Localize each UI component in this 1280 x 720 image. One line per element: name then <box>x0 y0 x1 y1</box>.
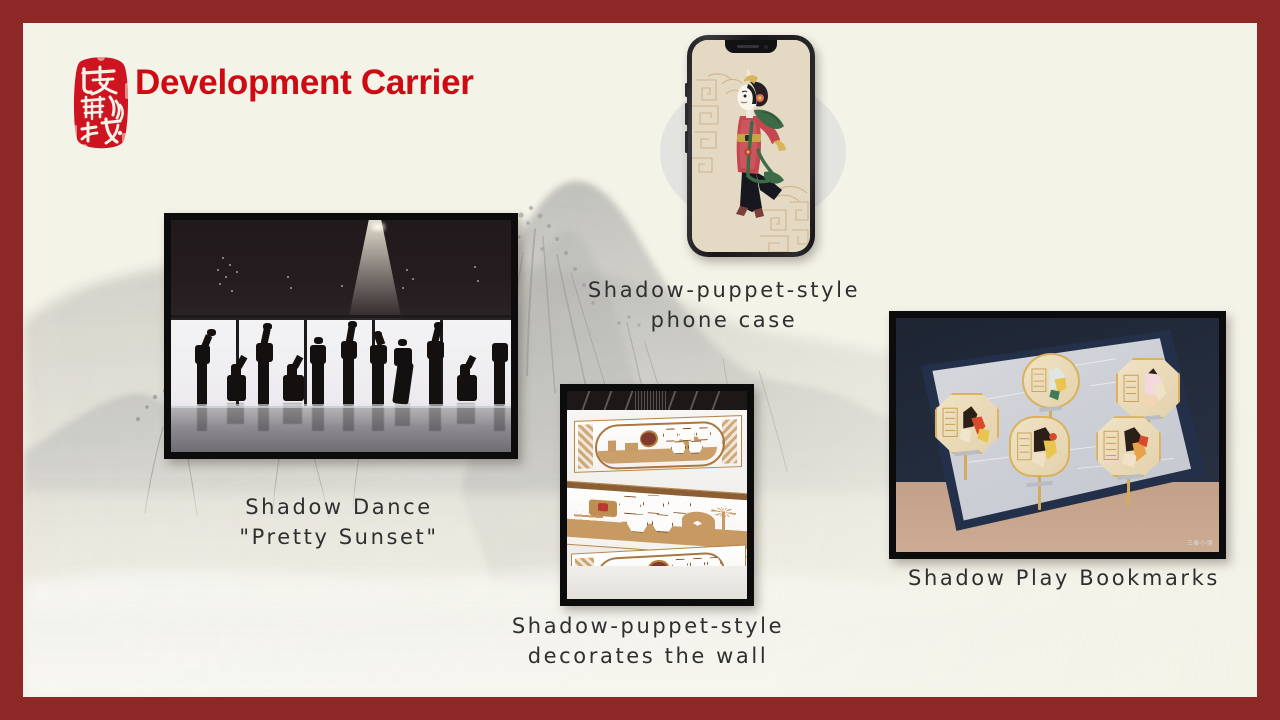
image-phone-case-mockup <box>664 30 840 262</box>
image-watermark: 三秦小强 <box>1187 538 1213 547</box>
shadow-play-seal-icon <box>70 53 132 151</box>
slide-canvas: Development Carrier <box>23 23 1257 697</box>
caption-wall-decoration: Shadow-puppet-style decorates the wall <box>473 612 823 672</box>
image-shadow-dance <box>164 213 518 459</box>
phone-notch <box>725 40 777 53</box>
slide-root: Development Carrier <box>0 0 1280 720</box>
caption-shadow-dance: Shadow Dance "Pretty Sunset" <box>151 493 527 553</box>
caption-bookmarks: Shadow Play Bookmarks <box>859 564 1257 594</box>
caption-phone-case: Shadow-puppet-style phone case <box>556 276 892 336</box>
phone-body <box>687 35 815 257</box>
phone-screen <box>692 40 810 252</box>
page-title: Development Carrier <box>135 63 474 103</box>
image-shadow-play-bookmarks: 三秦小强 <box>889 311 1226 559</box>
image-wall-decoration <box>560 384 754 606</box>
